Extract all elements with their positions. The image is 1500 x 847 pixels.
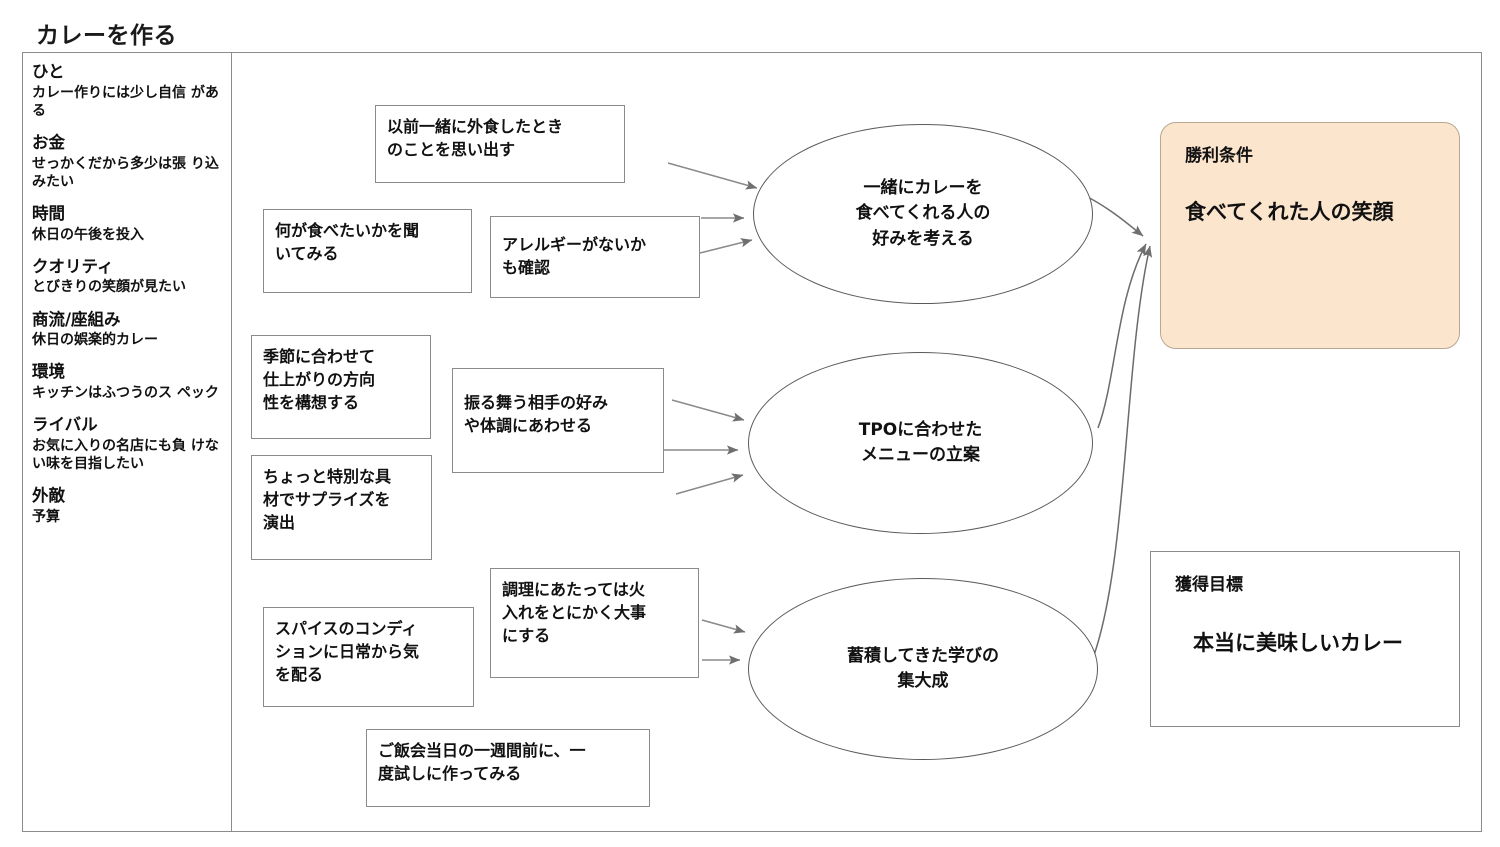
diagram-canvas: カレーを作る ひと カレー作りには少し自信 がある お金 せっかくだから多少は張… <box>0 0 1500 847</box>
sidebar: ひと カレー作りには少し自信 がある お金 せっかくだから多少は張 り込みたい … <box>32 62 228 539</box>
sidebar-item-term: 商流/座組み <box>32 310 228 331</box>
sidebar-item-term: お金 <box>32 133 228 154</box>
sidebar-item-term: クオリティ <box>32 257 228 278</box>
goal-value: 本当に美味しいカレー <box>1193 630 1435 657</box>
sidebar-item-desc: カレー作りには少し自信 がある <box>32 84 228 120</box>
note-special-surprise[interactable]: ちょっと特別な具 材でサプライズを 演出 <box>251 455 432 560</box>
node-accumulated[interactable]: 蓄積してきた学びの 集大成 <box>748 578 1098 760</box>
node-consider-taste[interactable]: 一緒にカレーを 食べてくれる人の 好みを考える <box>753 124 1093 304</box>
sidebar-item-desc: 予算 <box>32 508 228 526</box>
sidebar-item-term: 環境 <box>32 362 228 383</box>
victory-condition-value: 食べてくれた人の笑顔 <box>1185 199 1435 226</box>
page-title: カレーを作る <box>36 16 177 50</box>
sidebar-item-desc: キッチンはふつうのス ペック <box>32 384 228 402</box>
victory-condition-panel[interactable]: 勝利条件 食べてくれた人の笑顔 <box>1160 122 1460 349</box>
sidebar-item-jikan[interactable]: 時間 休日の午後を投入 <box>32 204 228 244</box>
sidebar-item-hito[interactable]: ひと カレー作りには少し自信 がある <box>32 62 228 120</box>
sidebar-item-term: 外敵 <box>32 486 228 507</box>
sidebar-item-desc: とびきりの笑顔が見たい <box>32 278 228 296</box>
goal-panel[interactable]: 獲得目標 本当に美味しいカレー <box>1150 551 1460 727</box>
sidebar-item-kankyo[interactable]: 環境 キッチンはふつうのス ペック <box>32 362 228 402</box>
sidebar-item-desc: せっかくだから多少は張 り込みたい <box>32 155 228 191</box>
sidebar-item-term: ライバル <box>32 415 228 436</box>
note-season-direction[interactable]: 季節に合わせて 仕上がりの方向 性を構想する <box>251 335 431 439</box>
note-spice-condition[interactable]: スパイスのコンディ ションに日常から気 を配る <box>263 607 474 707</box>
sidebar-item-rival[interactable]: ライバル お気に入りの名店にも負 けない味を目指したい <box>32 415 228 473</box>
note-heat-control[interactable]: 調理にあたっては火 入れをとにかく大事 にする <box>490 568 699 678</box>
note-allergy-check[interactable]: アレルギーがないか も確認 <box>490 216 700 298</box>
sidebar-item-desc: お気に入りの名店にも負 けない味を目指したい <box>32 437 228 473</box>
sidebar-item-quality[interactable]: クオリティ とびきりの笑顔が見たい <box>32 257 228 297</box>
note-ask-what-eat[interactable]: 何が食べたいかを聞 いてみる <box>263 209 472 293</box>
sidebar-item-gaiteki[interactable]: 外敵 予算 <box>32 486 228 526</box>
sidebar-item-term: ひと <box>32 62 228 83</box>
sidebar-divider <box>231 52 232 832</box>
sidebar-item-desc: 休日の午後を投入 <box>32 226 228 244</box>
sidebar-item-okane[interactable]: お金 せっかくだから多少は張 り込みたい <box>32 133 228 191</box>
sidebar-item-shoryu-zagumi[interactable]: 商流/座組み 休日の娯楽的カレー <box>32 310 228 350</box>
goal-title: 獲得目標 <box>1175 574 1435 596</box>
note-guest-taste[interactable]: 振る舞う相手の好み や体調にあわせる <box>452 368 664 473</box>
note-trial-run[interactable]: ご飯会当日の一週間前に、一 度試しに作ってみる <box>366 729 650 807</box>
note-past-dining[interactable]: 以前一緒に外食したとき のことを思い出す <box>375 105 625 183</box>
node-tpo-menu[interactable]: TPOに合わせた メニューの立案 <box>748 352 1093 534</box>
sidebar-item-desc: 休日の娯楽的カレー <box>32 331 228 349</box>
sidebar-item-term: 時間 <box>32 204 228 225</box>
victory-condition-title: 勝利条件 <box>1185 145 1435 167</box>
